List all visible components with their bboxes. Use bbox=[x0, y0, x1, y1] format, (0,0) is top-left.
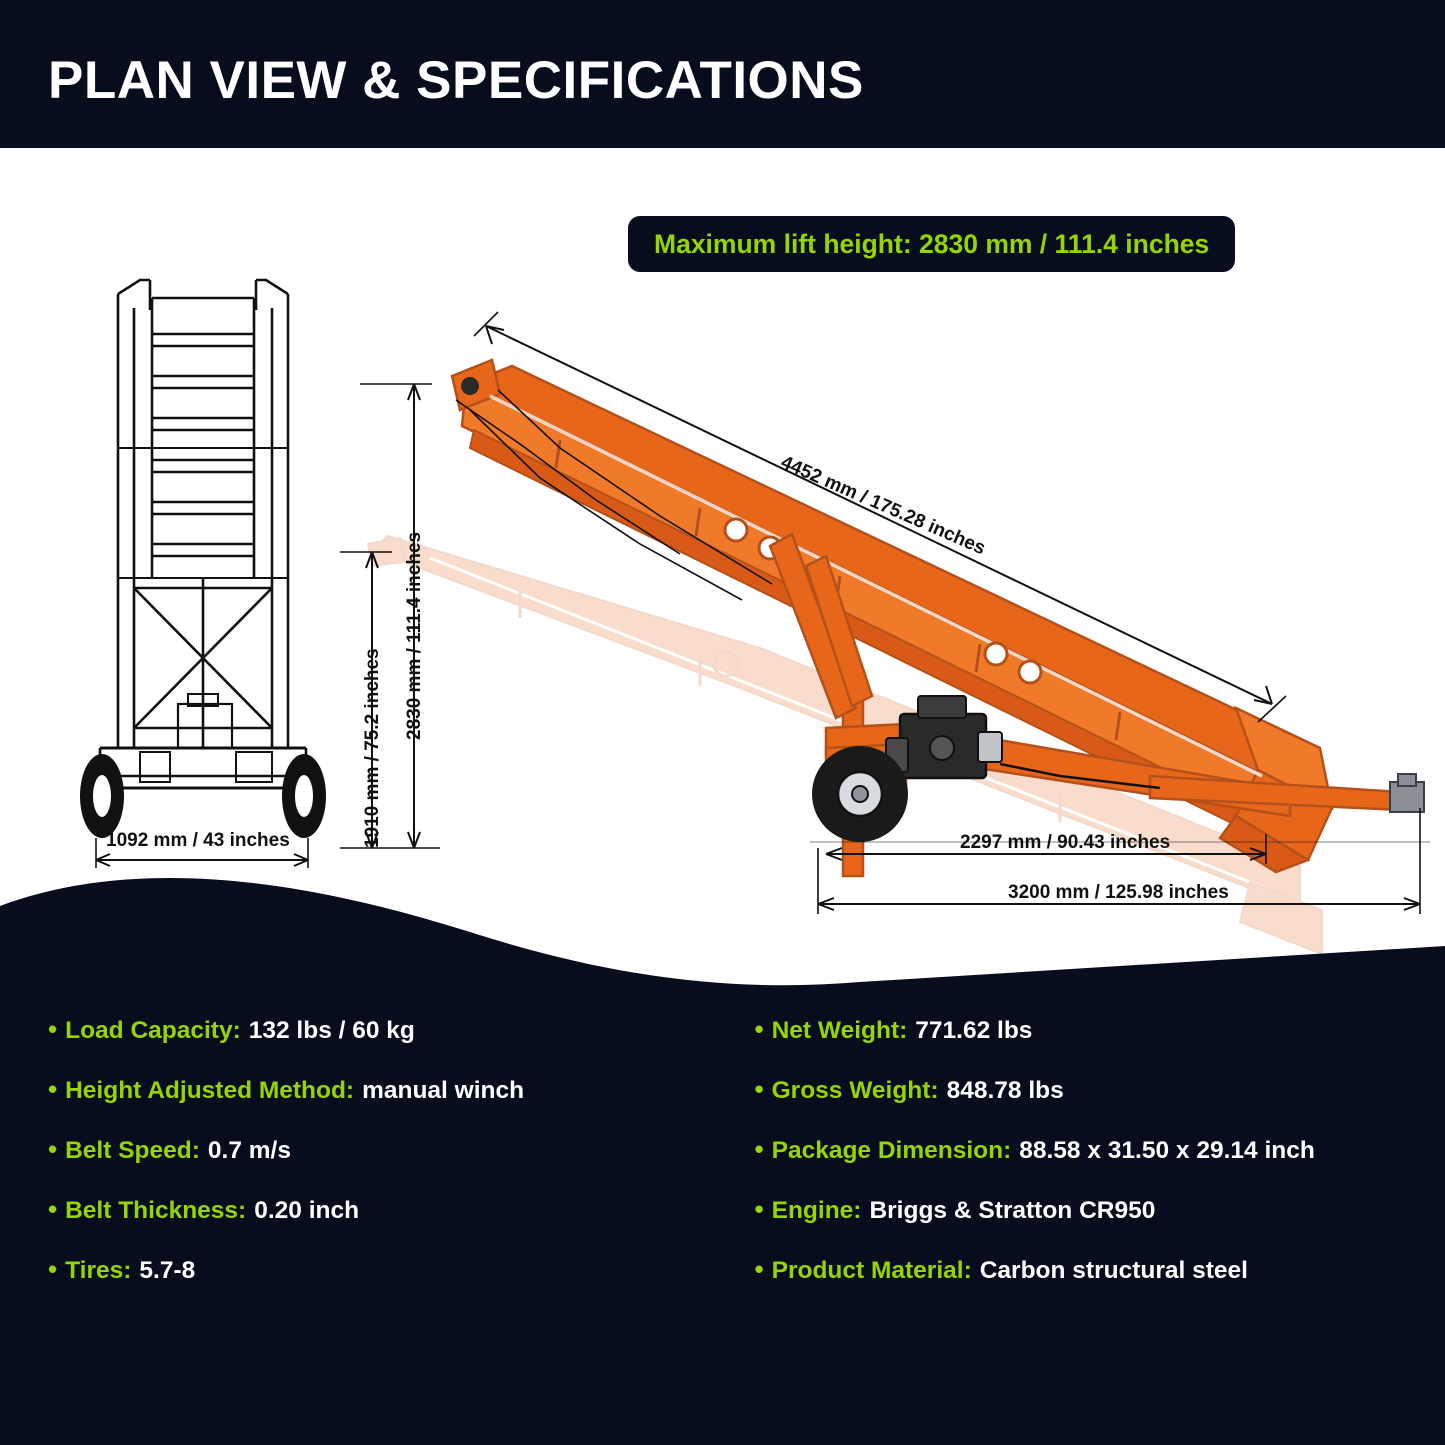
spec-value: 0.20 inch bbox=[254, 1197, 359, 1225]
dimension-overall-length: 3200 mm / 125.98 inches bbox=[1008, 882, 1229, 904]
max-lift-height-text: Maximum lift height: 2830 mm / 111.4 inc… bbox=[654, 229, 1209, 260]
spec-value: 0.7 m/s bbox=[208, 1137, 291, 1165]
spec-value: 848.78 lbs bbox=[947, 1077, 1064, 1105]
page-header: PLAN VIEW & SPECIFICATIONS bbox=[0, 0, 1445, 148]
spec-item: • Engine: Briggs & Stratton CR950 bbox=[737, 1196, 1426, 1256]
spec-item: • Belt Thickness: 0.20 inch bbox=[48, 1196, 737, 1256]
bullet-icon: • bbox=[755, 1196, 764, 1222]
spec-label: Package Dimension: bbox=[772, 1137, 1012, 1165]
bullet-icon: • bbox=[755, 1136, 764, 1162]
bullet-icon: • bbox=[48, 1196, 57, 1222]
spec-label: Gross Weight: bbox=[772, 1077, 939, 1105]
specs-column-left: • Load Capacity: 132 lbs / 60 kg • Heigh… bbox=[48, 1016, 737, 1316]
dimension-wheelbase: 2297 mm / 90.43 inches bbox=[960, 832, 1170, 854]
front-view-drawing bbox=[84, 280, 322, 796]
bullet-icon: • bbox=[48, 1136, 57, 1162]
spec-item: • Net Weight: 771.62 lbs bbox=[737, 1016, 1426, 1076]
spec-label: Belt Speed: bbox=[65, 1137, 200, 1165]
dimension-lowered-height: 1910 mm / 75.2 inches bbox=[362, 648, 384, 848]
spec-value: 132 lbs / 60 kg bbox=[249, 1017, 415, 1045]
spec-value: Carbon structural steel bbox=[980, 1257, 1248, 1285]
front-view-tires bbox=[80, 754, 326, 838]
specs-column-right: • Net Weight: 771.62 lbs • Gross Weight:… bbox=[737, 1016, 1426, 1316]
spec-value: Briggs & Stratton CR950 bbox=[869, 1197, 1155, 1225]
spec-label: Net Weight: bbox=[772, 1017, 908, 1045]
spec-label: Load Capacity: bbox=[65, 1017, 241, 1045]
spec-item: • Height Adjusted Method: manual winch bbox=[48, 1076, 737, 1136]
spec-label: Height Adjusted Method: bbox=[65, 1077, 354, 1105]
page-title: PLAN VIEW & SPECIFICATIONS bbox=[48, 50, 864, 111]
bullet-icon: • bbox=[48, 1076, 57, 1102]
bullet-icon: • bbox=[755, 1076, 764, 1102]
spec-label: Tires: bbox=[65, 1257, 131, 1285]
bullet-icon: • bbox=[755, 1256, 764, 1282]
spec-value: 771.62 lbs bbox=[915, 1017, 1032, 1045]
bullet-icon: • bbox=[48, 1016, 57, 1042]
spec-value: manual winch bbox=[362, 1077, 524, 1105]
spec-item: • Tires: 5.7-8 bbox=[48, 1256, 737, 1316]
spec-item: • Gross Weight: 848.78 lbs bbox=[737, 1076, 1426, 1136]
bullet-icon: • bbox=[48, 1256, 57, 1282]
spec-value: 88.58 x 31.50 x 29.14 inch bbox=[1019, 1137, 1315, 1165]
specifications-panel: • Load Capacity: 132 lbs / 60 kg • Heigh… bbox=[0, 860, 1445, 1445]
dimension-lift-height: 2830 mm / 111.4 inches bbox=[404, 532, 426, 740]
spec-item: • Load Capacity: 132 lbs / 60 kg bbox=[48, 1016, 737, 1076]
bullet-icon: • bbox=[755, 1016, 764, 1042]
spec-item: • Belt Speed: 0.7 m/s bbox=[48, 1136, 737, 1196]
spec-label: Engine: bbox=[772, 1197, 862, 1225]
spec-label: Product Material: bbox=[772, 1257, 972, 1285]
spec-label: Belt Thickness: bbox=[65, 1197, 246, 1225]
spec-item: • Product Material: Carbon structural st… bbox=[737, 1256, 1426, 1316]
spec-value: 5.7-8 bbox=[139, 1257, 195, 1285]
spec-item: • Package Dimension: 88.58 x 31.50 x 29.… bbox=[737, 1136, 1426, 1196]
max-lift-height-callout: Maximum lift height: 2830 mm / 111.4 inc… bbox=[628, 216, 1235, 272]
dimension-width: 1092 mm / 43 inches bbox=[106, 830, 290, 852]
plan-view-specifications-page: PLAN VIEW & SPECIFICATIONS bbox=[0, 0, 1445, 1445]
